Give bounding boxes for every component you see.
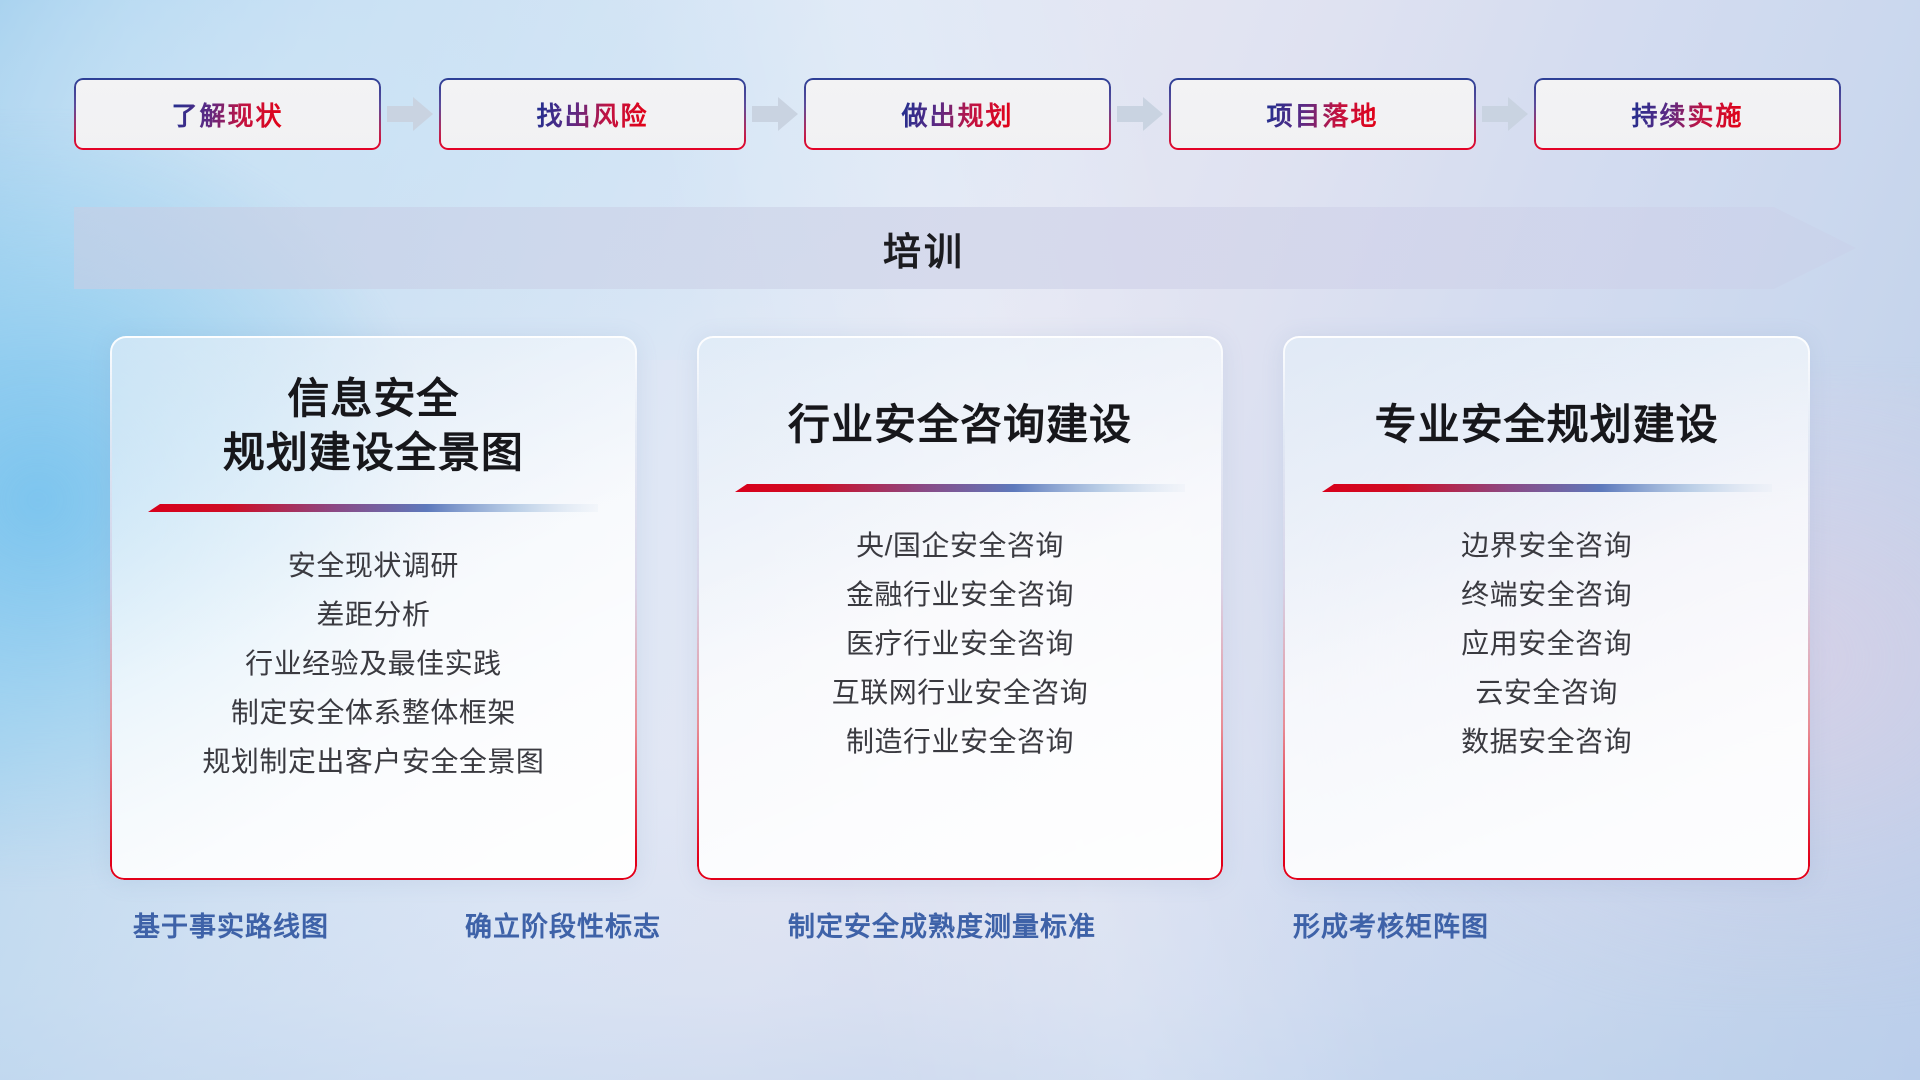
- step-box-5[interactable]: 持续实施: [1534, 78, 1841, 150]
- training-banner: 培训: [74, 207, 1856, 289]
- step-label-1: 了解现状: [171, 96, 283, 133]
- card-list-item: 应用安全咨询: [1461, 630, 1632, 658]
- cards-row: 信息安全 规划建设全景图: [110, 336, 1810, 880]
- slide-stage: 了解现状 找出风险 做出规划 项目落地 持续实施: [0, 0, 1920, 1080]
- caption-2: 确立阶段性标志: [465, 905, 661, 944]
- card-list-item: 终端安全咨询: [1461, 581, 1632, 609]
- card-list-item: 制定安全体系整体框架: [202, 699, 544, 727]
- step-arrow-icon-3: [1111, 92, 1169, 136]
- caption-4: 形成考核矩阵图: [1293, 905, 1489, 944]
- card-list-item: 边界安全咨询: [1461, 532, 1632, 560]
- card-list-item: 云安全咨询: [1461, 679, 1632, 707]
- card-list-item: 医疗行业安全咨询: [832, 630, 1089, 658]
- card-title-2: 行业安全咨询建设: [788, 398, 1132, 452]
- card-divider-1: [148, 502, 598, 518]
- step-label-3: 做出规划: [901, 96, 1013, 133]
- step-box-3[interactable]: 做出规划: [804, 78, 1111, 150]
- card-list-2: 央/国企安全咨询 金融行业安全咨询 医疗行业安全咨询 互联网行业安全咨询 制造行…: [832, 532, 1089, 756]
- card-list-item: 制造行业安全咨询: [832, 728, 1089, 756]
- step-box-2[interactable]: 找出风险: [439, 78, 746, 150]
- card-list-item: 差距分析: [202, 601, 544, 629]
- training-banner-label: 培训: [74, 207, 1774, 289]
- card-list-item: 数据安全咨询: [1461, 728, 1632, 756]
- step-label-5: 持续实施: [1631, 96, 1743, 133]
- card-list-item: 金融行业安全咨询: [832, 581, 1089, 609]
- step-label-2: 找出风险: [536, 96, 648, 133]
- card-title-1: 信息安全 规划建设全景图: [223, 372, 524, 480]
- caption-1: 基于事实路线图: [133, 905, 329, 944]
- card-title-3: 专业安全规划建设: [1375, 398, 1719, 452]
- caption-3: 制定安全成熟度测量标准: [788, 905, 1096, 944]
- step-arrow-icon-4: [1476, 92, 1534, 136]
- step-box-4[interactable]: 项目落地: [1169, 78, 1476, 150]
- step-box-1[interactable]: 了解现状: [74, 78, 381, 150]
- card-list-1: 安全现状调研 差距分析 行业经验及最佳实践 制定安全体系整体框架 规划制定出客户…: [202, 552, 544, 776]
- card-list-item: 规划制定出客户安全全景图: [202, 748, 544, 776]
- card-list-3: 边界安全咨询 终端安全咨询 应用安全咨询 云安全咨询 数据安全咨询: [1461, 532, 1632, 756]
- card-list-item: 安全现状调研: [202, 552, 544, 580]
- step-arrow-icon-1: [381, 92, 439, 136]
- process-steps-row: 了解现状 找出风险 做出规划 项目落地 持续实施: [74, 78, 1854, 150]
- card-3[interactable]: 专业安全规划建设: [1283, 336, 1810, 880]
- card-list-item: 互联网行业安全咨询: [832, 679, 1089, 707]
- card-2[interactable]: 行业安全咨询建设: [697, 336, 1224, 880]
- card-list-item: 行业经验及最佳实践: [202, 650, 544, 678]
- captions-row: 基于事实路线图 确立阶段性标志 制定安全成熟度测量标准 形成考核矩阵图: [0, 905, 1920, 961]
- step-label-4: 项目落地: [1266, 96, 1378, 133]
- card-divider-3: [1322, 482, 1772, 498]
- card-divider-2: [735, 482, 1185, 498]
- card-list-item: 央/国企安全咨询: [832, 532, 1089, 560]
- card-1[interactable]: 信息安全 规划建设全景图: [110, 336, 637, 880]
- step-arrow-icon-2: [746, 92, 804, 136]
